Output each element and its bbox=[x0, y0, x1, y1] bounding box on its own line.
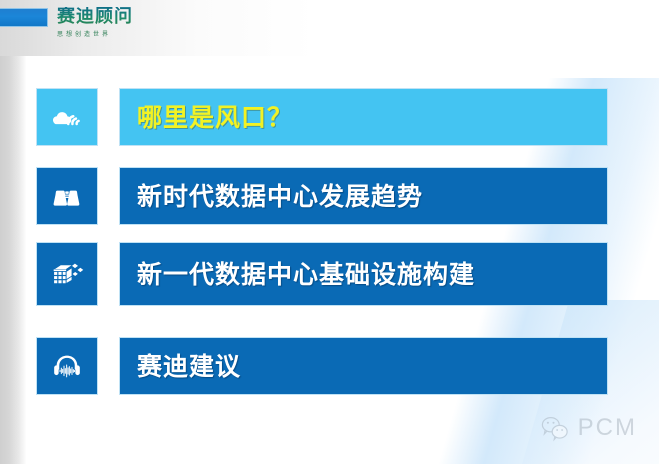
agenda-bar-3[interactable]: 新一代数据中心基础设施构建 bbox=[119, 242, 608, 306]
agenda-icon-box-4 bbox=[36, 337, 98, 395]
agenda-list: 哪里是风口？ 新 bbox=[0, 0, 659, 464]
cloud-wifi-icon bbox=[47, 97, 87, 137]
agenda-bar-4[interactable]: 赛迪建议 bbox=[119, 337, 608, 395]
agenda-label-1: 哪里是风口？ bbox=[137, 105, 293, 130]
agenda-bar-2[interactable]: 新时代数据中心发展趋势 bbox=[119, 167, 608, 225]
agenda-bar-1[interactable]: 哪里是风口？ bbox=[119, 88, 608, 146]
agenda-label-2: 新时代数据中心发展趋势 bbox=[137, 184, 423, 209]
cube-blocks-icon bbox=[47, 254, 87, 294]
agenda-label-4: 赛迪建议 bbox=[137, 354, 241, 379]
agenda-icon-box-1 bbox=[36, 88, 98, 146]
agenda-icon-box-2 bbox=[36, 167, 98, 225]
wechat-icon bbox=[539, 414, 571, 442]
binoculars-icon bbox=[47, 176, 87, 216]
watermark-label: PCM bbox=[578, 414, 637, 442]
agenda-icon-box-3 bbox=[36, 242, 98, 306]
agenda-label-3: 新一代数据中心基础设施构建 bbox=[137, 262, 475, 287]
headphones-waveform-icon bbox=[47, 346, 87, 386]
watermark: PCM bbox=[539, 414, 637, 442]
slide-canvas: 赛迪顾问 思想创造世界 bbox=[0, 0, 659, 464]
